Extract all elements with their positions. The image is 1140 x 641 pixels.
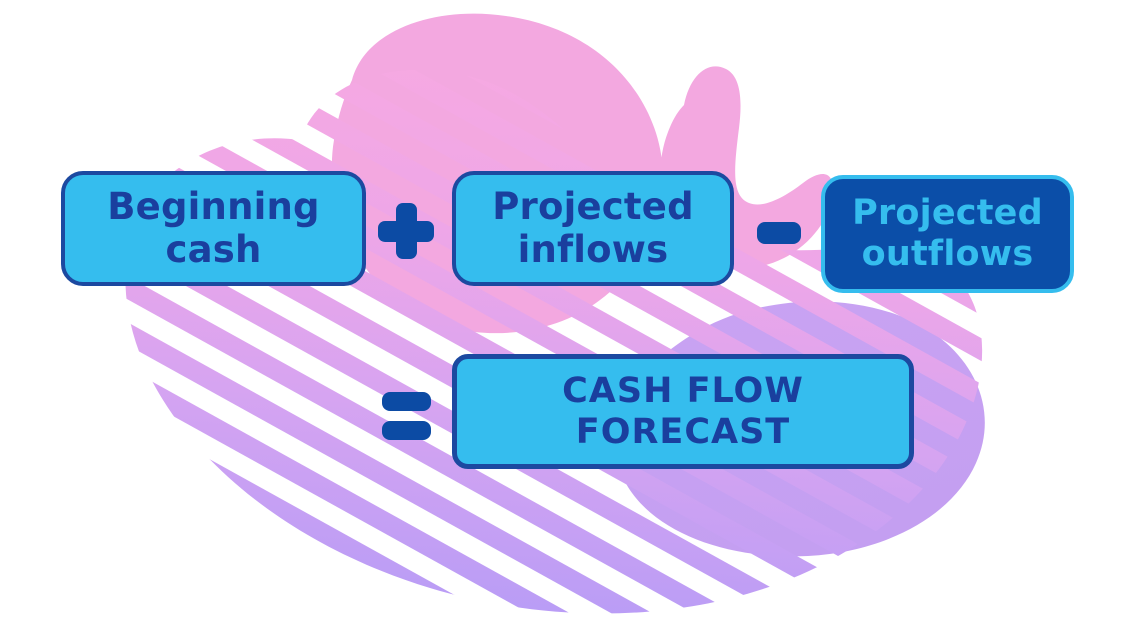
result-label-cash-flow-forecast: CASH FLOW FORECAST — [552, 371, 814, 452]
term-box-beginning-cash[interactable]: Beginning cash — [61, 171, 366, 286]
term-box-projected-outflows[interactable]: Projected outflows — [821, 175, 1074, 293]
result-box-cash-flow-forecast[interactable]: CASH FLOW FORECAST — [452, 354, 914, 469]
plus-sign — [378, 203, 434, 259]
equals-sign — [382, 392, 431, 440]
term-box-projected-inflows[interactable]: Projected inflows — [452, 171, 734, 286]
term-label-projected-outflows: Projected outflows — [842, 193, 1053, 274]
cash-flow-formula: Beginning cash Projected inflows Project… — [0, 0, 1140, 641]
term-label-beginning-cash: Beginning cash — [97, 186, 329, 272]
equals-bar-top — [382, 392, 431, 411]
term-label-projected-inflows: Projected inflows — [482, 186, 704, 272]
minus-sign — [757, 222, 801, 244]
slide-canvas: Beginning cash Projected inflows Project… — [0, 0, 1140, 641]
plus-bar-vertical — [396, 203, 417, 259]
equals-bar-bottom — [382, 421, 431, 440]
